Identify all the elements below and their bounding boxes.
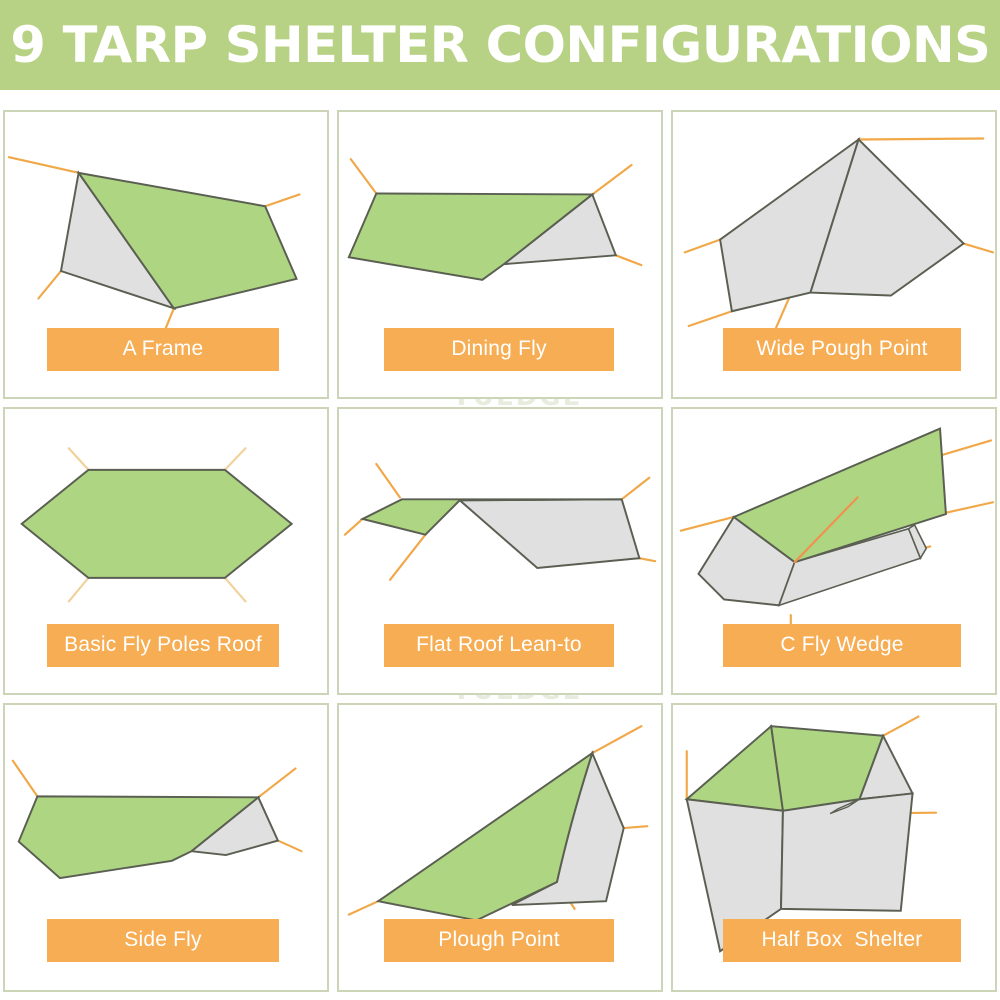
- shelter-label-dining-fly: Dining Fly: [384, 328, 614, 371]
- shelter-card-c-fly-wedge[interactable]: C Fly Wedge: [671, 407, 997, 696]
- shelter-label-basic-fly-poles-roof: Basic Fly Poles Roof: [47, 624, 279, 667]
- shelter-card-a-frame[interactable]: A Frame: [3, 110, 329, 399]
- shelter-label-half-box-shelter: Half Box Shelter: [723, 919, 961, 962]
- basic-fly-hexagon-panel: [22, 470, 292, 578]
- shelter-card-basic-fly-poles-roof[interactable]: Basic Fly Poles Roof: [3, 407, 329, 696]
- shelter-label-flat-roof-lean-to: Flat Roof Lean-to: [384, 624, 614, 667]
- half-box-roof-left: [687, 726, 783, 811]
- shelter-card-plough-point[interactable]: Plough Point: [337, 703, 663, 992]
- shelter-card-flat-roof-lean-to[interactable]: Flat Roof Lean-to: [337, 407, 663, 696]
- header-banner: 9 TARP SHELTER CONFIGURATIONS: [0, 0, 1000, 90]
- shelter-label-side-fly: Side Fly: [47, 919, 279, 962]
- shelter-card-side-fly[interactable]: Side Fly: [3, 703, 329, 992]
- shelter-card-wide-pough-point[interactable]: Wide Pough Point: [671, 110, 997, 399]
- flat-roof-gray-panel: [460, 499, 640, 568]
- shelter-label-a-frame: A Frame: [47, 328, 279, 371]
- shelter-card-dining-fly[interactable]: Dining Fly: [337, 110, 663, 399]
- shelter-label-plough-point: Plough Point: [384, 919, 614, 962]
- shelter-grid: A Frame Dining Fly Wide: [0, 108, 1000, 1000]
- shelter-label-c-fly-wedge: C Fly Wedge: [723, 624, 961, 667]
- shelter-label-wide-pough-point: Wide Pough Point: [723, 328, 961, 371]
- half-box-wall-right: [781, 794, 913, 911]
- page-title: 9 TARP SHELTER CONFIGURATIONS: [10, 20, 990, 70]
- shelter-card-half-box-shelter[interactable]: Half Box Shelter: [671, 703, 997, 992]
